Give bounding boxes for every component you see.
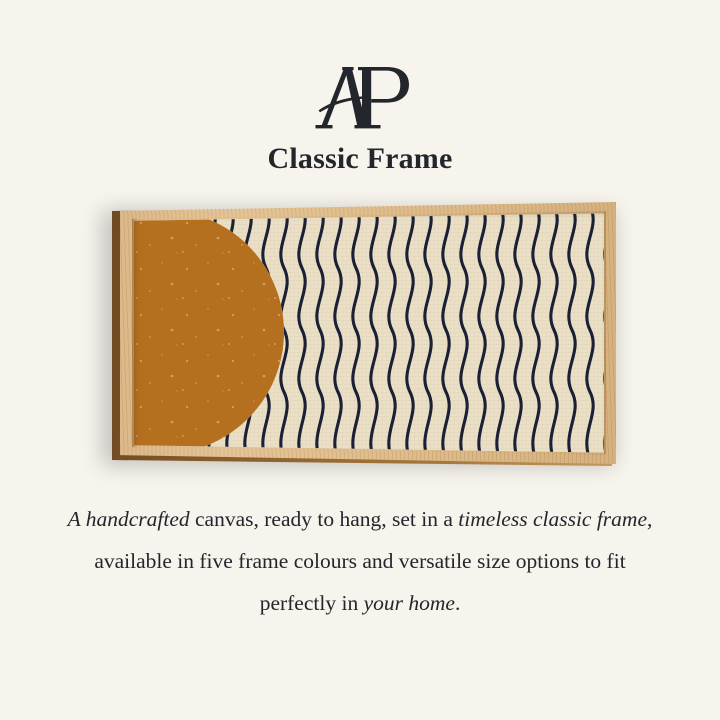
framed-artwork	[96, 196, 624, 478]
description-text-4: in	[341, 591, 363, 615]
description-em-1: A handcrafted	[68, 507, 190, 531]
description-em-2: timeless classic frame	[458, 507, 647, 531]
page-title: Classic Frame	[0, 142, 720, 176]
product-description: A handcrafted canvas, ready to hang, set…	[60, 498, 660, 624]
canvas-artwork	[134, 212, 604, 454]
product-mockup-page: Classic Frame	[0, 0, 720, 720]
description-em-3: your home	[364, 591, 455, 615]
ap-monogram-logo	[0, 58, 720, 140]
description-text-5: .	[455, 591, 460, 615]
description-text-1: canvas, ready to hang, set in a	[190, 507, 453, 531]
